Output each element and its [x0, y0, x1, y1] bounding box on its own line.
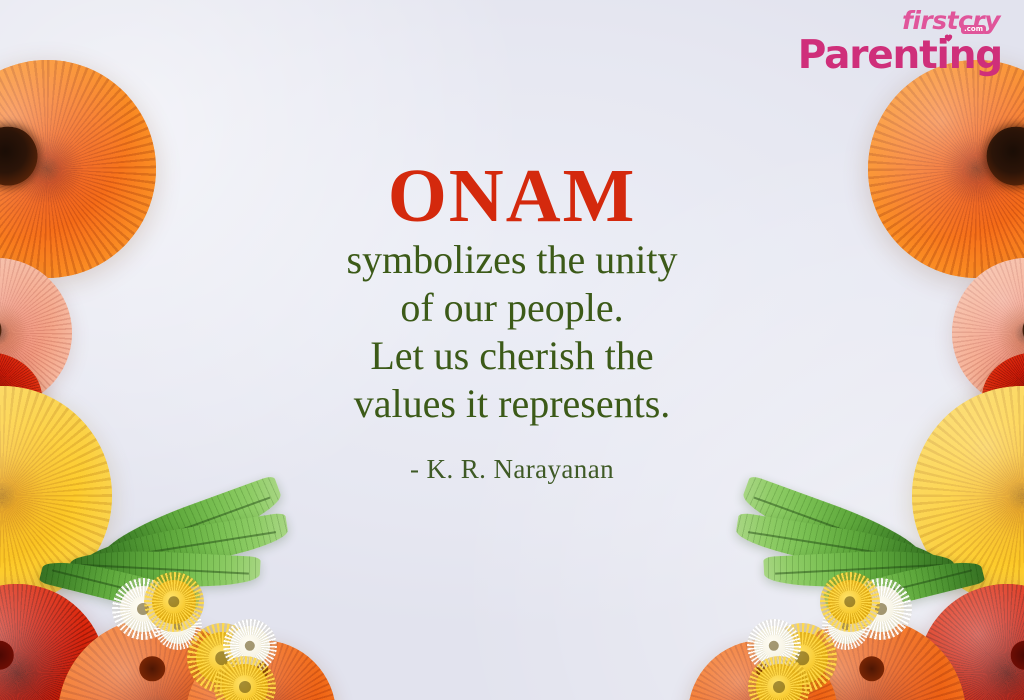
quote-line-2: of our people. [252, 284, 772, 332]
firstcry-wordmark: firstcry .com [902, 8, 1002, 33]
onam-heading: ONAM [252, 160, 772, 232]
quote-line-4: values it represents. [252, 380, 772, 428]
heart-icon [943, 32, 954, 43]
quote-line-3: Let us cherish the [252, 332, 772, 380]
quote-line-1: symbolizes the unity [252, 236, 772, 284]
parenting-wordmark: Parenting [798, 36, 1002, 75]
firstcry-parenting-logo[interactable]: firstcry .com Parenting [798, 8, 1002, 75]
quote-author: - K. R. Narayanan [252, 454, 772, 485]
quote-block: ONAM symbolizes the unity of our people.… [252, 160, 772, 485]
parenting-text: Parenting [798, 33, 1002, 78]
onam-quote-card: firstcry .com Parenting ONAM symbolizes … [0, 0, 1024, 700]
